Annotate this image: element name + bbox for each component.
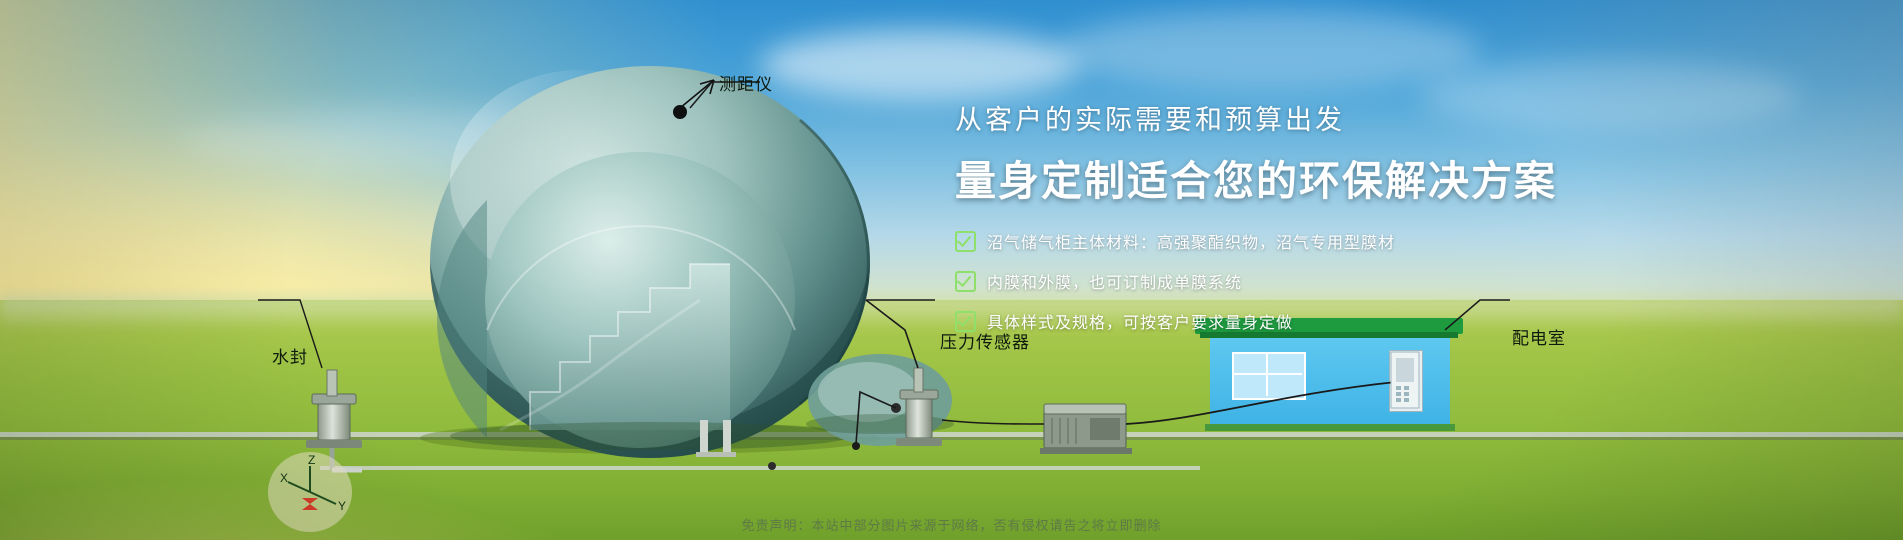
bullet-item-3: 具体样式及规格，可按客户要求量身定做 [955, 309, 1635, 333]
check-icon [955, 311, 976, 332]
bullet-text-1: 沼气储气柜主体材料：高强聚酯织物，沼气专用型膜材 [987, 229, 1395, 253]
svg-text:Y: Y [338, 499, 346, 513]
bullet-item-1: 沼气储气柜主体材料：高强聚酯织物，沼气专用型膜材 [955, 229, 1635, 253]
copy-title: 量身定制适合您的环保解决方案 [955, 147, 1635, 207]
bullet-text-3: 具体样式及规格，可按客户要求量身定做 [987, 309, 1293, 333]
disclaimer-text: 免责声明：本站中部分图片来源于网络，否有侵权请告之将立即删除 [0, 515, 1903, 534]
check-icon [955, 271, 976, 292]
label-rangefinder: 测距仪 [719, 70, 773, 95]
copy-subtitle: 从客户的实际需要和预算出发 [955, 98, 1635, 137]
check-icon [955, 231, 976, 252]
svg-text:Z: Z [308, 453, 315, 467]
svg-text:X: X [280, 471, 288, 485]
marketing-copy: 从客户的实际需要和预算出发 量身定制适合您的环保解决方案 沼气储气柜主体材料：高… [955, 98, 1635, 349]
bullet-text-2: 内膜和外膜，也可订制成单膜系统 [987, 269, 1242, 293]
bullet-item-2: 内膜和外膜，也可订制成单膜系统 [955, 269, 1635, 293]
banner-stage: Z Y X 测距仪 水封 压力传感器 配电室 从客户的实际需要和预算出发 量身定… [0, 0, 1903, 540]
label-water-seal: 水封 [272, 343, 308, 368]
